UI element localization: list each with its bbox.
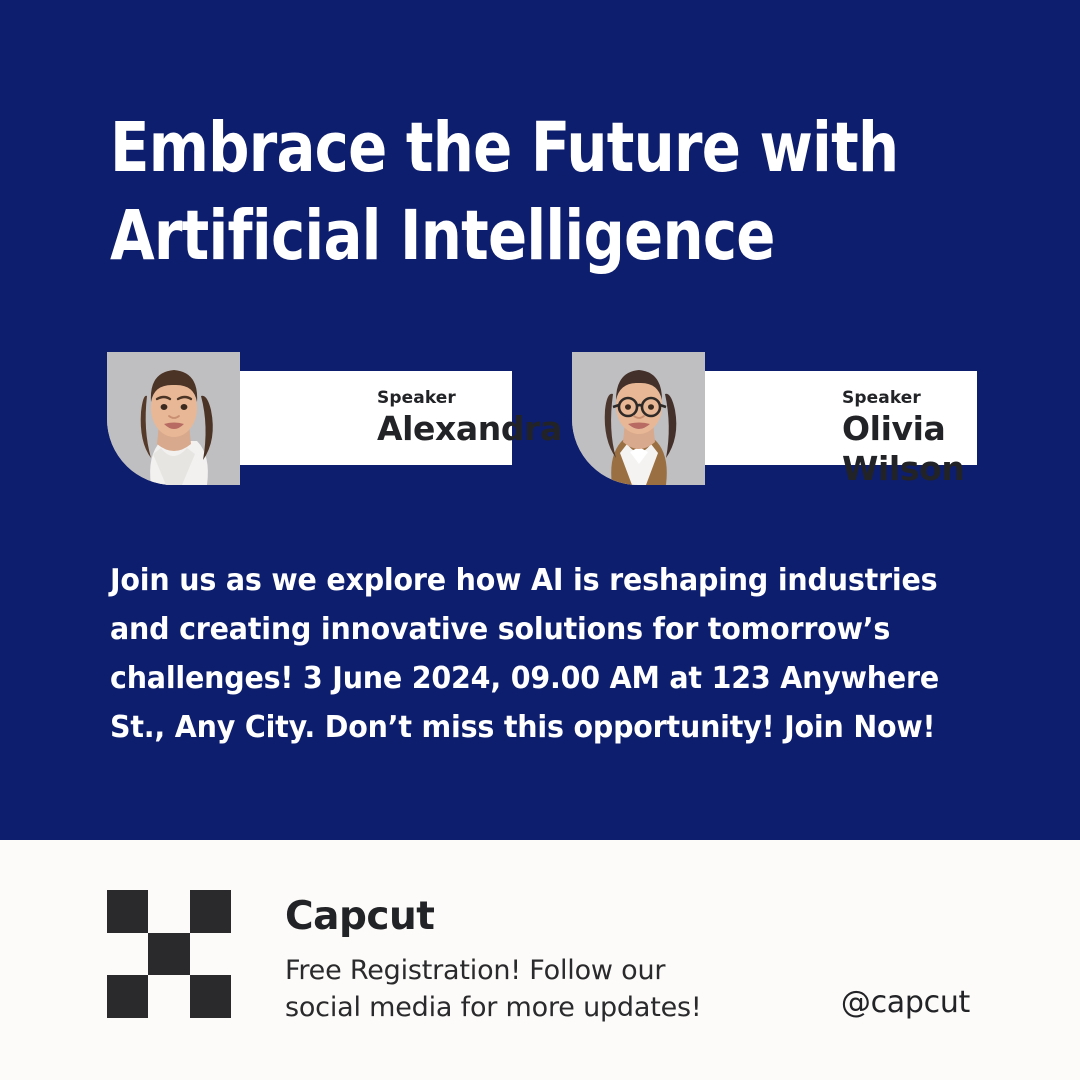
checkerboard-logo-icon (107, 890, 231, 1018)
speaker-role-label: Speaker (842, 388, 977, 408)
avatar (107, 352, 240, 485)
event-description: Join us as we explore how AI is reshapin… (110, 556, 946, 752)
brand-block: Capcut Free Registration! Follow our soc… (285, 893, 745, 1026)
brand-tagline: Free Registration! Follow our social med… (285, 952, 745, 1026)
logo-cell (107, 975, 148, 1018)
speaker-card: Speaker Alexandra (107, 352, 512, 488)
avatar (572, 352, 705, 485)
speaker-name-plate: Speaker Olivia Wilson (702, 371, 977, 465)
logo-cell (107, 890, 148, 933)
logo-cell (148, 975, 189, 1018)
speaker-name: Alexandra (377, 409, 562, 449)
logo-cell (190, 933, 231, 976)
brand-name: Capcut (285, 893, 745, 941)
speaker-name: Olivia Wilson (842, 409, 977, 489)
page-title: Embrace the Future with Artificial Intel… (110, 104, 947, 280)
poster-canvas: Embrace the Future with Artificial Intel… (0, 0, 1080, 1080)
logo-cell (107, 933, 148, 976)
logo-cell (190, 890, 231, 933)
logo-cell (190, 975, 231, 1018)
speaker-name-plate: Speaker Alexandra (237, 371, 512, 465)
speaker-list: Speaker Alexandra (107, 352, 987, 488)
logo-cell (148, 933, 189, 976)
logo-cell (148, 890, 189, 933)
speaker-card: Speaker Olivia Wilson (572, 352, 977, 488)
speaker-role-label: Speaker (377, 388, 562, 408)
social-handle: @capcut (841, 985, 970, 1021)
